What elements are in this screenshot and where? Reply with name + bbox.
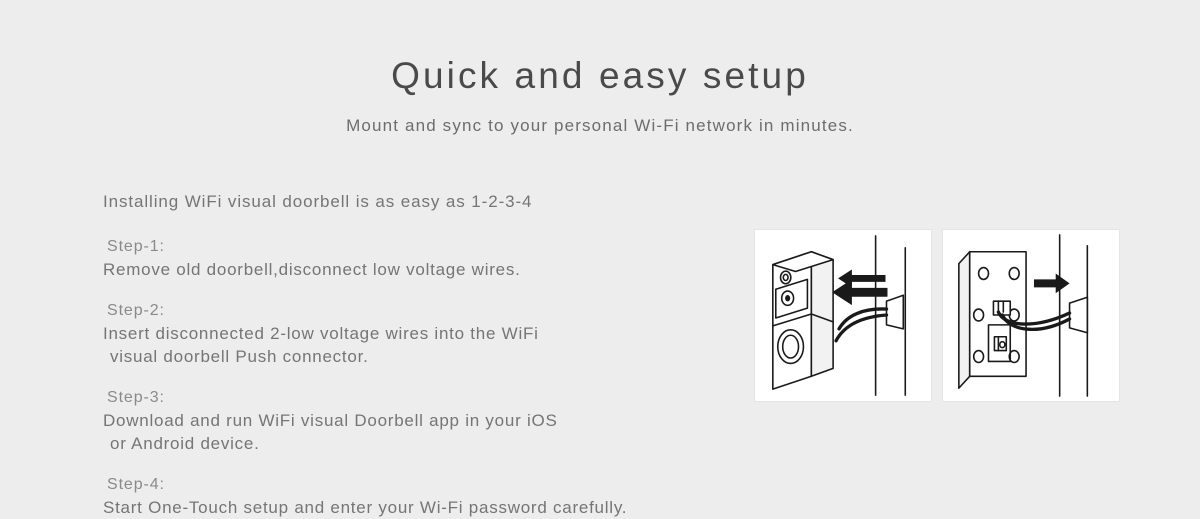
- bracket-wiring-diagram: [942, 229, 1120, 402]
- figures-row: [754, 229, 1120, 402]
- step-label: Step-2:: [103, 300, 763, 322]
- instructions-block: Installing WiFi visual doorbell is as ea…: [103, 190, 763, 519]
- step-description-line2: visual doorbell Push connector.: [103, 345, 763, 368]
- step-label: Step-4:: [103, 474, 763, 496]
- step-description: Remove old doorbell,disconnect low volta…: [103, 258, 763, 281]
- promo-page: Quick and easy setup Mount and sync to y…: [0, 0, 1200, 500]
- step-description-line1: Download and run WiFi visual Doorbell ap…: [103, 411, 558, 430]
- step-item: Step-3: Download and run WiFi visual Doo…: [103, 387, 763, 455]
- step-description: Insert disconnected 2-low voltage wires …: [103, 322, 763, 368]
- step-description: Download and run WiFi visual Doorbell ap…: [103, 409, 763, 455]
- step-label: Step-1:: [103, 236, 763, 258]
- doorbell-removal-diagram: [754, 229, 932, 402]
- step-description: Start One-Touch setup and enter your Wi-…: [103, 496, 763, 519]
- step-item: Step-1: Remove old doorbell,disconnect l…: [103, 236, 763, 281]
- steps-list: Step-1: Remove old doorbell,disconnect l…: [103, 236, 763, 519]
- page-subtitle: Mount and sync to your personal Wi-Fi ne…: [0, 98, 1200, 137]
- step-description-line1: Insert disconnected 2-low voltage wires …: [103, 324, 539, 343]
- page-title: Quick and easy setup: [0, 0, 1200, 98]
- step-item: Step-2: Insert disconnected 2-low voltag…: [103, 300, 763, 368]
- step-description-line2: or Android device.: [103, 432, 763, 455]
- step-description-line1: Start One-Touch setup and enter your Wi-…: [103, 498, 627, 517]
- step-label: Step-3:: [103, 387, 763, 409]
- intro-line: Installing WiFi visual doorbell is as ea…: [103, 190, 763, 214]
- step-item: Step-4: Start One-Touch setup and enter …: [103, 474, 763, 519]
- page-header: Quick and easy setup Mount and sync to y…: [0, 0, 1200, 137]
- step-description-line1: Remove old doorbell,disconnect low volta…: [103, 260, 521, 279]
